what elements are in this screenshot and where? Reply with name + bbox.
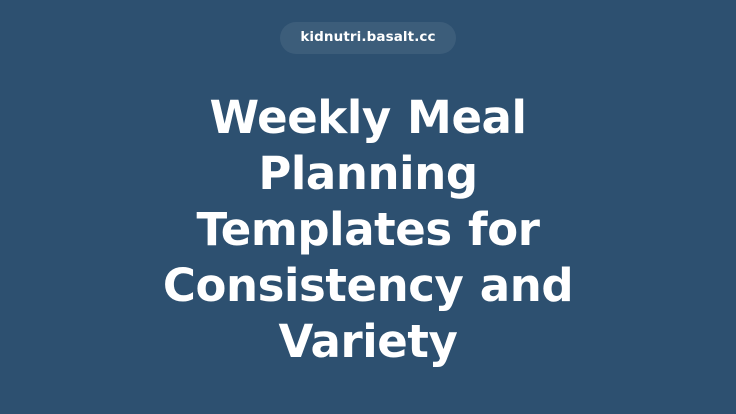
domain-badge: kidnutri.basalt.cc (280, 22, 455, 54)
title-line-2: Templates for (118, 202, 618, 258)
badge-row: kidnutri.basalt.cc (0, 22, 736, 54)
title-line-4: Variety (118, 314, 618, 370)
headline-wrap: Weekly Meal Planning Templates for Consi… (0, 90, 736, 370)
title-line-3: Consistency and (118, 258, 618, 314)
title-line-1: Weekly Meal Planning (118, 90, 618, 202)
page-title: Weekly Meal Planning Templates for Consi… (118, 90, 618, 370)
title-slide: kidnutri.basalt.cc Weekly Meal Planning … (0, 0, 736, 414)
